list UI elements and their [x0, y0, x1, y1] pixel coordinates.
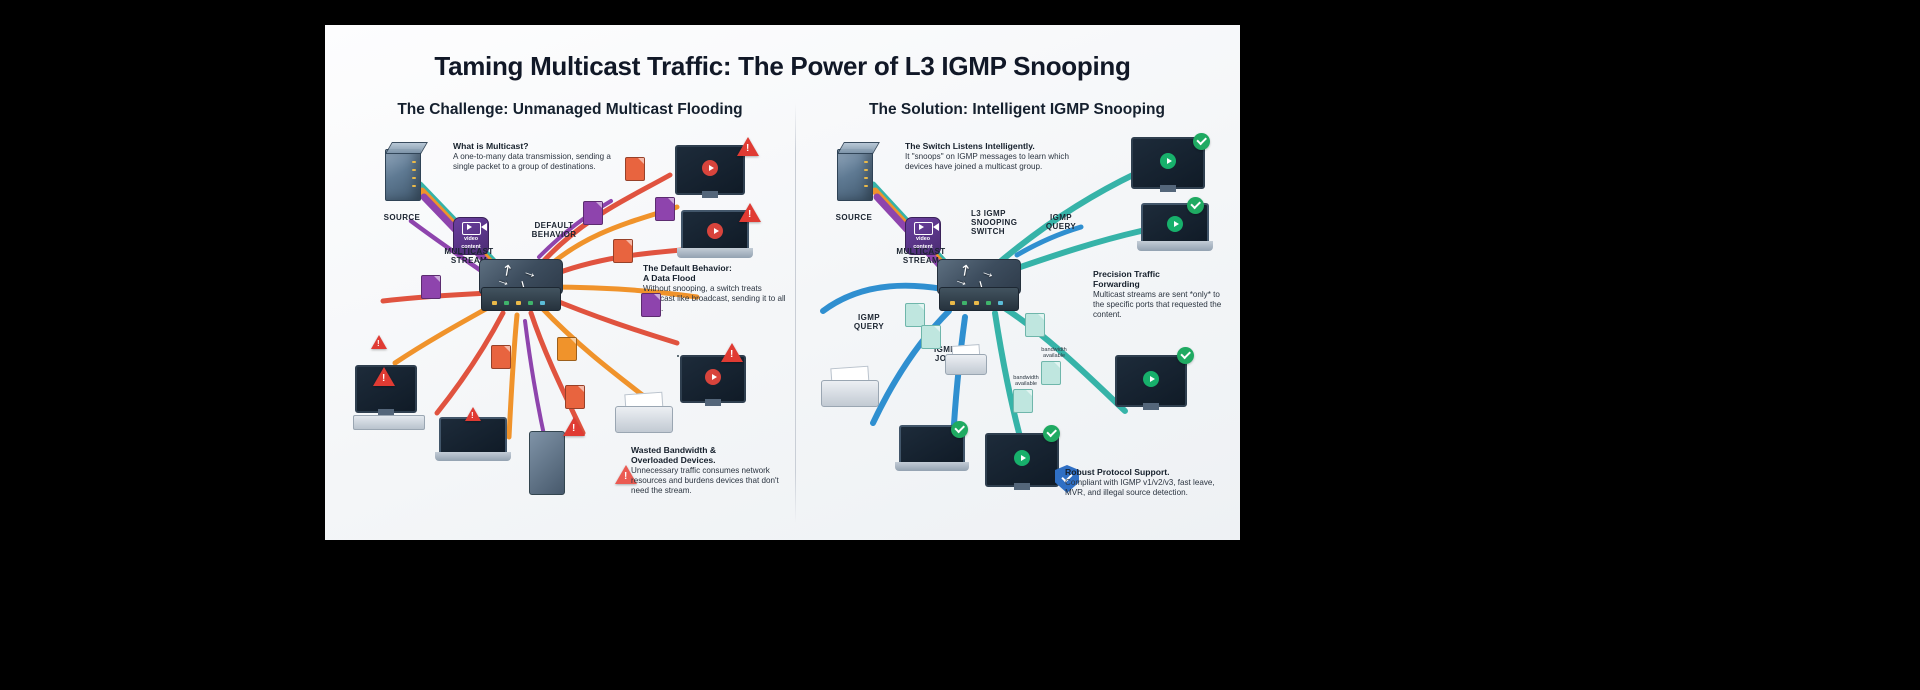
check-icon-4 — [1043, 425, 1060, 442]
callout-heading: The Switch Listens Intelligently. — [905, 141, 1085, 151]
packet-icon-3 — [613, 239, 633, 263]
left-panel-heading: The Challenge: Unmanaged Multicast Flood… — [345, 101, 795, 119]
callout-robust-protocol: Robust Protocol Support. Compliant with … — [1065, 467, 1225, 498]
callout-heading: What is Multicast? — [453, 141, 623, 151]
spacer-left — [677, 355, 679, 357]
callout-what-is-multicast: What is Multicast? A one-to-many data tr… — [453, 141, 623, 172]
callout-body: Without snooping, a switch treats multic… — [643, 284, 793, 314]
callout-precision-forwarding: Precision Traffic Forwarding Multicast s… — [1093, 269, 1223, 320]
switch-right: ↗ → ← ↘ — [933, 257, 1023, 319]
tower-pc-left — [529, 431, 565, 495]
switch-left: ↗ → ← ↘ — [475, 257, 565, 319]
video-camera-icon — [914, 222, 933, 235]
source-server-left — [379, 141, 425, 207]
check-icon-5 — [951, 421, 968, 438]
poster-canvas: Taming Multicast Traffic: The Power of L… — [0, 0, 1920, 690]
alert-icon-1 — [737, 137, 759, 156]
check-icon-2 — [1187, 197, 1204, 214]
packet-icon-1 — [625, 157, 645, 181]
callout-heading-line2: A Data Flood — [643, 273, 793, 283]
packet-icon-6 — [491, 345, 511, 369]
printer-left — [615, 393, 671, 433]
right-panel-heading: The Solution: Intelligent IGMP Snooping — [797, 101, 1237, 119]
alert-icon-2 — [739, 203, 761, 222]
callout-heading-line1: The Default Behavior: — [643, 263, 793, 273]
source-label-right: SOURCE — [813, 213, 895, 222]
alert-icon-3 — [721, 343, 743, 362]
callout-body: Multicast streams are sent *only* to the… — [1093, 290, 1223, 320]
check-icon-1 — [1193, 133, 1210, 150]
printer-right-2 — [945, 345, 985, 375]
source-label-left: SOURCE — [361, 213, 443, 222]
page-title: Taming Multicast Traffic: The Power of L… — [325, 51, 1240, 82]
callout-heading-line2: Forwarding — [1093, 279, 1223, 289]
callout-heading-line1: Precision Traffic — [1093, 269, 1223, 279]
packet-icon-r5 — [1013, 389, 1033, 413]
callout-heading: Robust Protocol Support. — [1065, 467, 1225, 477]
printer-right — [821, 367, 877, 407]
igmp-query-label-top: IGMPQUERY — [1037, 213, 1085, 231]
packet-icon-r2 — [921, 325, 941, 349]
panel-divider — [795, 103, 796, 523]
callout-body: It "snoops" on IGMP messages to learn wh… — [905, 152, 1085, 172]
alert-icon-7 — [563, 417, 585, 436]
l3-igmp-snooping-switch-label: L3 IGMP SNOOPING SWITCH — [971, 209, 1043, 237]
callout-body: Compliant with IGMP v1/v2/v3, fast leave… — [1065, 478, 1225, 498]
callout-switch-listens: The Switch Listens Intelligently. It "sn… — [905, 141, 1085, 172]
packet-icon-r1 — [905, 303, 925, 327]
alert-icon-5 — [371, 335, 387, 349]
packet-icon-8 — [421, 275, 441, 299]
video-badge-line1: video — [916, 237, 930, 243]
check-icon-3 — [1177, 347, 1194, 364]
laptop-left-2 — [435, 417, 511, 461]
packet-icon-r4 — [1041, 361, 1061, 385]
source-server-right — [831, 141, 877, 207]
packet-icon-9 — [565, 385, 585, 409]
callout-body: Unnecessary traffic consumes network res… — [631, 466, 791, 496]
video-badge-line1: video — [464, 237, 478, 243]
bandwidth-available-note-1: bandwidthavailable — [1025, 347, 1083, 360]
default-behavior-label: DEFAULTBEHAVIOR — [515, 221, 593, 239]
video-camera-icon — [462, 222, 481, 235]
callout-heading-line1: Wasted Bandwidth & — [631, 445, 791, 455]
monitor-left-1 — [675, 145, 745, 191]
igmp-query-label-left: IGMPQUERY — [845, 313, 893, 331]
monitor-right-2 — [1115, 355, 1187, 403]
callout-body: A one-to-many data transmission, sending… — [453, 152, 623, 172]
callout-data-flood: The Default Behavior: A Data Flood Witho… — [643, 263, 793, 314]
callout-heading-line2: Overloaded Devices. — [631, 455, 791, 465]
alert-icon-6 — [465, 407, 481, 421]
callout-wasted-bandwidth: Wasted Bandwidth & Overloaded Devices. U… — [631, 445, 791, 496]
packet-icon-r3 — [1025, 313, 1045, 337]
infographic-card: Taming Multicast Traffic: The Power of L… — [325, 25, 1240, 540]
keyboard-left — [353, 415, 425, 430]
packet-icon-7 — [557, 337, 577, 361]
alert-icon-4 — [373, 367, 395, 386]
packet-icon-5 — [583, 201, 603, 225]
packet-icon-4 — [641, 293, 661, 317]
packet-icon-2 — [655, 197, 675, 221]
